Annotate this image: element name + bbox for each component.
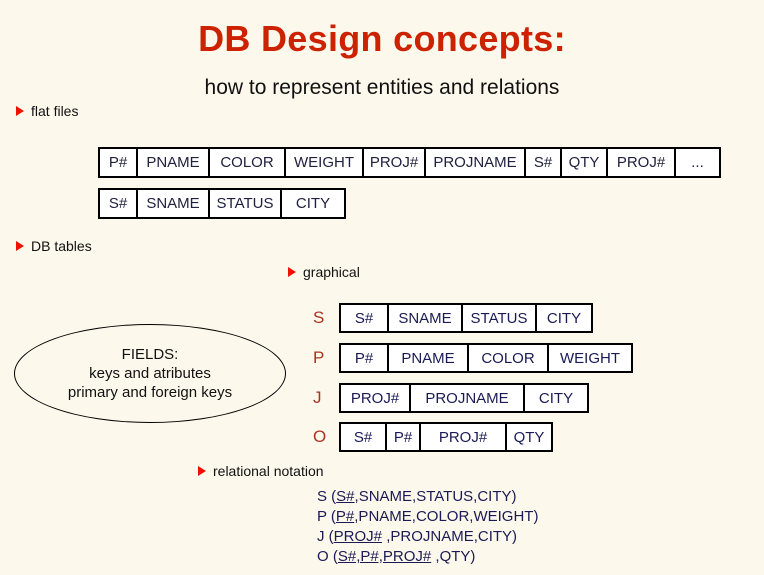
- flat-file-cell: CITY: [282, 190, 344, 217]
- flat-file-cell: PROJNAME: [426, 149, 526, 176]
- triangle-right-icon: [16, 106, 24, 116]
- flat-file-cell: WEIGHT: [286, 149, 364, 176]
- bullet-label: DB tables: [31, 238, 92, 254]
- flat-file-cell: SNAME: [138, 190, 210, 217]
- ellipse-line: keys and atributes: [89, 364, 211, 383]
- relation-cell: P#: [387, 424, 421, 450]
- relation-table: P#PNAMECOLORWEIGHT: [339, 343, 633, 373]
- notation-prefix: J (: [317, 528, 334, 545]
- flat-file-cell: STATUS: [210, 190, 282, 217]
- relational-notation-block: S (S#,SNAME,STATUS,CITY)P (P#,PNAME,COLO…: [317, 487, 538, 567]
- notation-primary-key: P#: [336, 508, 354, 525]
- relation-cell: PROJ#: [421, 424, 507, 450]
- flat-file-cell: P#: [100, 149, 138, 176]
- flat-file-table-supplier: S#SNAMESTATUSCITY: [98, 188, 346, 219]
- page-title: DB Design concepts:: [0, 18, 764, 60]
- notation-attributes: ,QTY): [431, 548, 475, 565]
- slide-canvas: DB Design concepts: how to represent ent…: [0, 0, 764, 575]
- notation-primary-key: PROJ#: [334, 528, 382, 545]
- relation-row-j: JPROJ#PROJNAMECITY: [313, 383, 589, 413]
- relation-cell: SNAME: [389, 305, 463, 331]
- notation-line: J (PROJ# ,PROJNAME,CITY): [317, 527, 538, 547]
- relation-label: P: [313, 348, 339, 368]
- relation-cell: COLOR: [469, 345, 549, 371]
- flat-file-cell: ...: [676, 149, 719, 176]
- notation-prefix: P (: [317, 508, 336, 525]
- triangle-right-icon: [288, 267, 296, 277]
- notation-line: P (P#,PNAME,COLOR,WEIGHT): [317, 507, 538, 527]
- bullet-label: relational notation: [213, 463, 324, 479]
- notation-prefix: S (: [317, 488, 336, 505]
- bullet-graphical: graphical: [288, 264, 360, 280]
- notation-attributes: ,PNAME,COLOR,WEIGHT): [354, 508, 538, 525]
- flat-file-cell: S#: [526, 149, 562, 176]
- triangle-right-icon: [16, 241, 24, 251]
- flat-file-table-parts: P#PNAMECOLORWEIGHTPROJ#PROJNAMES#QTYPROJ…: [98, 147, 721, 178]
- flat-file-cell: PROJ#: [608, 149, 676, 176]
- bullet-label: graphical: [303, 264, 360, 280]
- relation-cell: PNAME: [389, 345, 469, 371]
- relation-table: S#SNAMESTATUSCITY: [339, 303, 593, 333]
- relation-label: S: [313, 308, 339, 328]
- relation-row-o: OS#P#PROJ#QTY: [313, 422, 553, 452]
- relation-cell: P#: [341, 345, 389, 371]
- flat-file-cell: S#: [100, 190, 138, 217]
- flat-file-cell: PROJ#: [364, 149, 426, 176]
- bullet-label: flat files: [31, 103, 78, 119]
- relation-cell: STATUS: [463, 305, 537, 331]
- fields-ellipse: FIELDS: keys and atributes primary and f…: [14, 324, 286, 423]
- flat-file-cell: COLOR: [210, 149, 286, 176]
- relation-table: PROJ#PROJNAMECITY: [339, 383, 589, 413]
- flat-file-cell: PNAME: [138, 149, 210, 176]
- relation-table: S#P#PROJ#QTY: [339, 422, 553, 452]
- relation-label: J: [313, 388, 339, 408]
- relation-row-p: PP#PNAMECOLORWEIGHT: [313, 343, 633, 373]
- relation-cell: CITY: [525, 385, 587, 411]
- relation-row-s: SS#SNAMESTATUSCITY: [313, 303, 593, 333]
- relation-cell: QTY: [507, 424, 551, 450]
- triangle-right-icon: [198, 466, 206, 476]
- relation-cell: PROJNAME: [411, 385, 525, 411]
- relation-cell: S#: [341, 305, 389, 331]
- notation-attributes: ,PROJNAME,CITY): [382, 528, 517, 545]
- ellipse-line: primary and foreign keys: [68, 383, 232, 402]
- relation-cell: S#: [341, 424, 387, 450]
- notation-prefix: O (: [317, 548, 338, 565]
- bullet-relational-notation: relational notation: [198, 463, 324, 479]
- flat-file-cell: QTY: [562, 149, 608, 176]
- relation-cell: CITY: [537, 305, 591, 331]
- notation-primary-key: S#: [336, 488, 354, 505]
- notation-line: O (S#,P#,PROJ# ,QTY): [317, 547, 538, 567]
- notation-line: S (S#,SNAME,STATUS,CITY): [317, 487, 538, 507]
- notation-attributes: ,SNAME,STATUS,CITY): [355, 488, 517, 505]
- bullet-flat-files: flat files: [16, 103, 78, 119]
- ellipse-line: FIELDS:: [122, 345, 179, 364]
- relation-label: O: [313, 427, 339, 447]
- bullet-db-tables: DB tables: [16, 238, 92, 254]
- page-subtitle: how to represent entities and relations: [0, 76, 764, 100]
- notation-primary-key: S#,P#,PROJ#: [338, 548, 431, 565]
- relation-cell: PROJ#: [341, 385, 411, 411]
- relation-cell: WEIGHT: [549, 345, 631, 371]
